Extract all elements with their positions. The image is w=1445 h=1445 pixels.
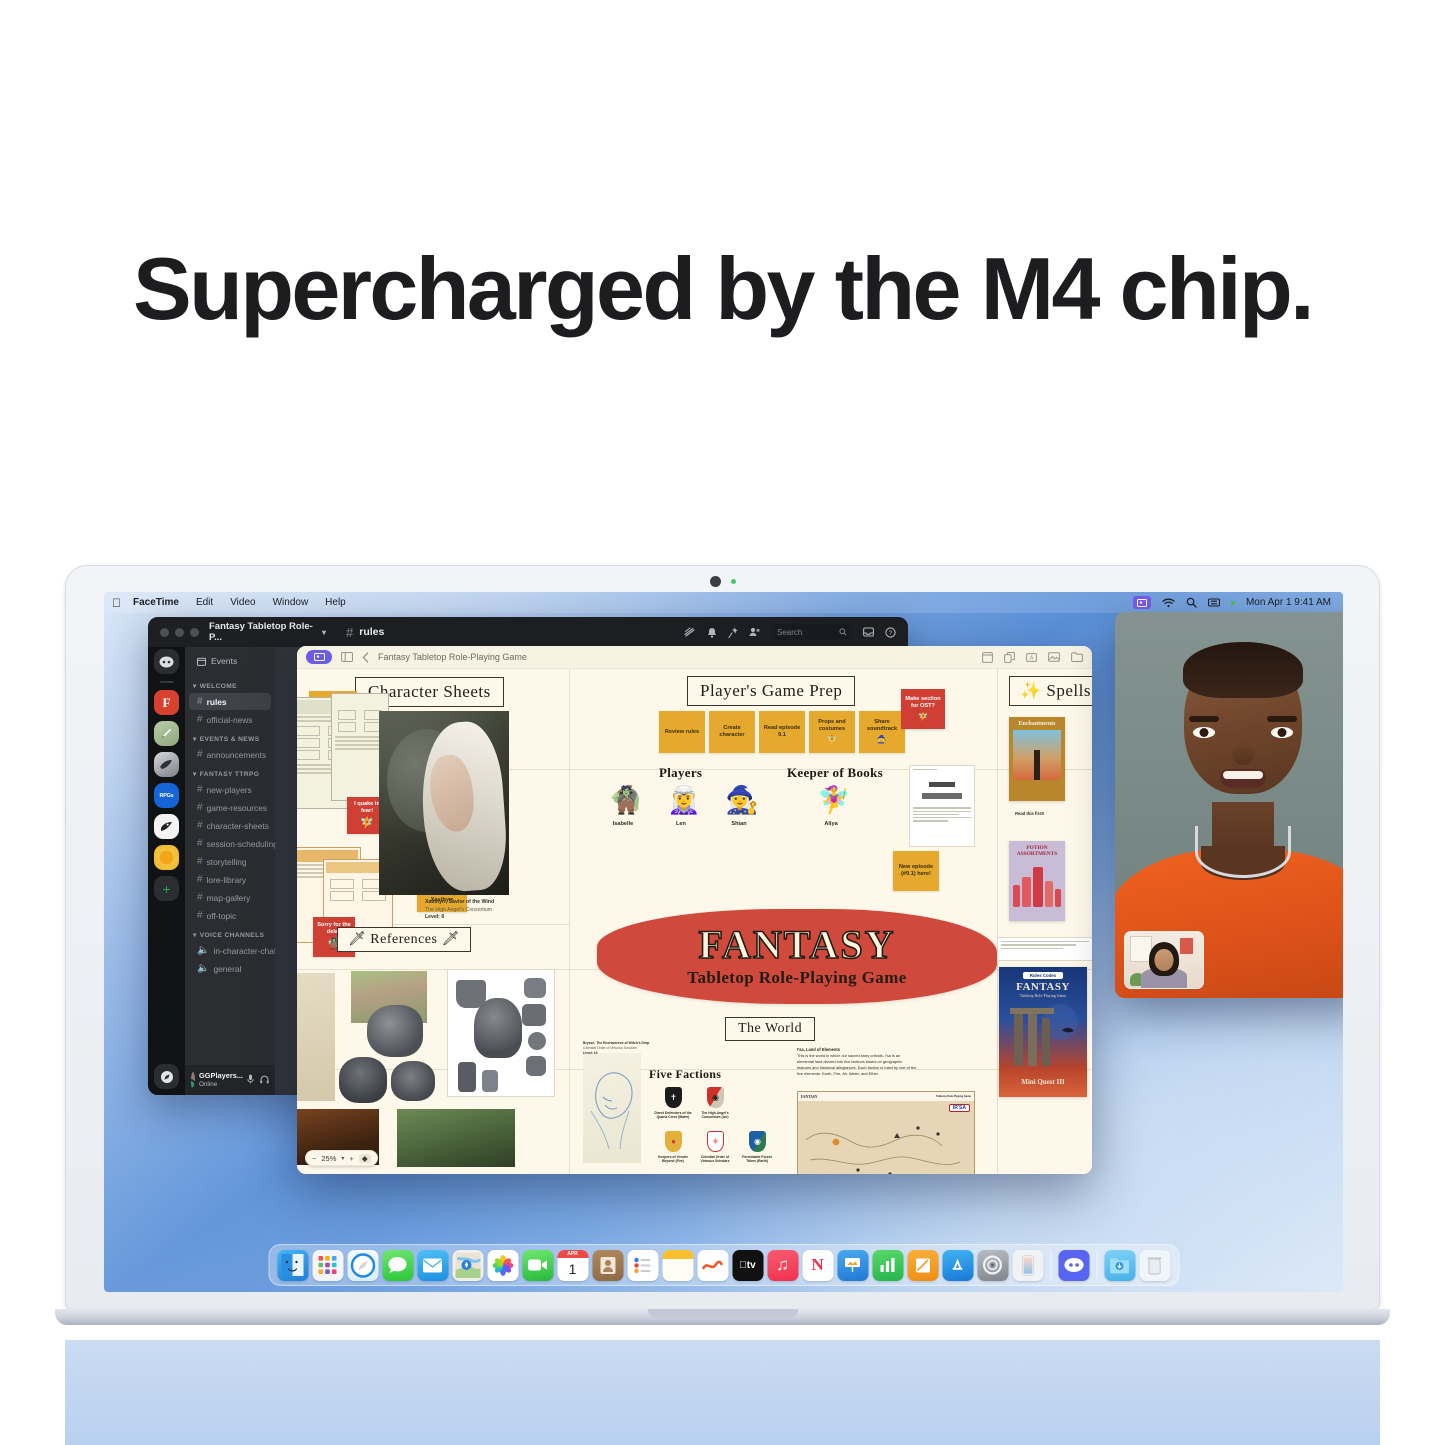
search-icon[interactable] [1186, 597, 1197, 608]
macos-dock[interactable]: APR 1 tv ♫ N [268, 1244, 1179, 1286]
reference-forest-photo[interactable] [397, 1109, 515, 1167]
sword-icon: 🗡 [441, 932, 459, 947]
faction-shield-keepers-yonder[interactable]: ● [665, 1131, 682, 1152]
sidebar-item-session-scheduling[interactable]: # session-scheduling [189, 835, 271, 852]
self-view-face [1155, 949, 1174, 971]
laptop-screen:  FaceTime Edit Video Window Help [104, 592, 1343, 1292]
reference-armor-plate-sheet[interactable] [447, 969, 555, 1097]
sidebar-item-official-news[interactable]: # official-news [189, 711, 271, 728]
sticky-make-ost-section[interactable]: Make section for OST? 🧚 [901, 689, 945, 729]
reference-helmet-3[interactable] [391, 1061, 435, 1101]
hash-icon: # [197, 910, 203, 921]
logo-sub-text: Tabletop Role-Playing Game [687, 968, 906, 988]
laptop-notch-dip [648, 1309, 798, 1318]
facetime-window[interactable] [1115, 612, 1343, 998]
fit-to-screen-icon[interactable]: ◆ [359, 1154, 371, 1163]
participant-teeth [1223, 771, 1263, 779]
dock-icon-messages[interactable] [382, 1250, 413, 1281]
sticky-note-icon[interactable] [982, 652, 993, 663]
book-title: POTION ASSORTMENTS [1013, 845, 1061, 857]
sticky-text: Make section for OST? [904, 696, 942, 710]
minimize-button[interactable] [175, 628, 184, 637]
five-factions-heading: Five Factions [649, 1067, 721, 1082]
menu-help[interactable]: Help [325, 597, 346, 608]
server-mask[interactable] [154, 814, 179, 839]
player-name-shian: Shian [719, 821, 759, 827]
close-button[interactable] [160, 628, 169, 637]
channel-scroll-area[interactable]: Events ▾ WELCOME # rules # [185, 647, 275, 1065]
participant-eye-left [1193, 727, 1215, 738]
maximize-button[interactable] [190, 628, 199, 637]
reference-helmet-2[interactable] [339, 1057, 387, 1103]
hash-icon: # [197, 784, 203, 795]
dock-divider [1050, 1251, 1051, 1279]
sword-icon: 🗡 [348, 932, 366, 947]
book-edition: Mini Quest III [1004, 1078, 1082, 1086]
category-label: FANTASY TTRPG [200, 771, 260, 778]
hash-icon: # [197, 892, 203, 903]
faction-label-high-angel: The High Angel's Consortium (Air) [695, 1111, 735, 1120]
back-chevron-icon[interactable] [362, 652, 369, 663]
svg-text:?: ? [889, 630, 893, 637]
chevron-down-icon: ▾ [193, 682, 197, 690]
discord-server-header[interactable]: Fantasy Tabletop Role-P... ▾ [209, 621, 336, 643]
dock-icon-discord[interactable] [1058, 1250, 1089, 1281]
book-subtitle: Tabletop Role-Playing Game [1004, 993, 1082, 998]
sidebar-item-rules[interactable]: # rules [189, 693, 271, 710]
faction-shield-forest-tribes[interactable]: ◉ [749, 1131, 766, 1152]
sticky-text: New episode (#9.1) here! [896, 864, 936, 878]
discord-channel-list[interactable]: Events ▾ WELCOME # rules # [185, 647, 275, 1095]
character-name: Xasthyrr, Savior of the Wind [425, 899, 525, 907]
dock-icon-contacts[interactable] [592, 1250, 623, 1281]
chevron-down-icon: ▾ [193, 931, 197, 939]
wifi-icon[interactable] [1162, 598, 1175, 608]
screen-share-icon[interactable] [1133, 596, 1151, 609]
discord-active-channel-name: rules [359, 626, 384, 638]
sketch-level: Level: 14 [583, 1051, 669, 1056]
zoom-in-button[interactable]: + [349, 1154, 353, 1163]
channel-label: map-gallery [207, 893, 251, 903]
page-title: Supercharged by the M4 chip. [0, 238, 1445, 340]
hash-icon: # [197, 714, 203, 725]
channel-label: character-sheets [207, 821, 269, 831]
macos-menu-bar:  FaceTime Edit Video Window Help [104, 592, 1343, 613]
dock-icon-music[interactable]: ♫ [767, 1250, 798, 1281]
reference-helmet-1[interactable] [367, 1005, 423, 1057]
discord-server-rail[interactable]: F RPGs + [148, 647, 185, 1095]
media-icon[interactable] [1048, 652, 1060, 662]
reference-sketch-knight[interactable] [297, 973, 335, 1101]
dock-icon-pages[interactable] [907, 1250, 938, 1281]
hash-icon: # [197, 802, 203, 813]
sidebar-item-game-resources[interactable]: # game-resources [189, 799, 271, 816]
server-sun[interactable] [154, 845, 179, 870]
server-rpgs[interactable]: RPGs [154, 783, 179, 808]
task-label: Read episode 9.1 [762, 725, 802, 739]
avatar[interactable] [191, 1072, 195, 1089]
task-label: Share soundtrack [862, 719, 902, 733]
camera-notch [688, 574, 758, 588]
category-label: VOICE CHANNELS [200, 932, 265, 939]
server-raven[interactable] [154, 752, 179, 777]
sidebar-item-storytelling[interactable]: # storytelling [189, 853, 271, 870]
sidebar-item-off-topic[interactable]: # off-topic [189, 907, 271, 924]
sticky-new-episode[interactable]: New episode (#9.1) here! [893, 851, 939, 891]
wizard-emoji: 🧙 [877, 735, 887, 745]
fairy-emoji: 🧚 [827, 735, 837, 745]
dock-icon-numbers[interactable] [872, 1250, 903, 1281]
player-avatar-isabelle[interactable]: 🧌 [609, 787, 643, 814]
discord-user-status: Online [199, 1081, 243, 1088]
section-label-spells: ✨ Spells [1009, 676, 1092, 706]
sparkles-icon: ✨ [1020, 681, 1042, 700]
dock-icon-system-settings[interactable] [977, 1250, 1008, 1281]
dock-icon-freeform[interactable] [697, 1250, 728, 1281]
section-label-the-world: The World [725, 1017, 815, 1041]
dock-icon-mail[interactable] [417, 1250, 448, 1281]
fairy-emoji: 🧚 [918, 712, 928, 722]
book-potion-assortments[interactable]: POTION ASSORTMENTS [1009, 841, 1065, 921]
hash-icon: # [197, 874, 203, 885]
channel-label: general [213, 964, 241, 974]
notifications-bell-icon[interactable] [707, 627, 717, 638]
members-icon[interactable] [749, 627, 761, 637]
freeform-canvas[interactable]: Character Sheets PUT COMPLETED CHARACTER… [297, 669, 1092, 1174]
self-view-wall-art [1180, 938, 1193, 954]
apple-menu-icon[interactable]:  [112, 597, 121, 609]
handbook-note [997, 937, 1092, 961]
sidebar-item-map-gallery[interactable]: # map-gallery [189, 889, 271, 906]
calendar-icon [197, 657, 206, 666]
faction-shield-high-angel[interactable]: ◉ [707, 1087, 724, 1108]
faction-label-celestial-order: Celestial Order of Virtuous Scholars [695, 1155, 735, 1164]
dock-icon-app-store[interactable] [942, 1250, 973, 1281]
episode-script-doc[interactable] [909, 765, 975, 847]
participant-hair [1183, 642, 1303, 698]
server-fantasy-ttrpg[interactable]: F [154, 690, 179, 715]
faction-label-forest-tribes: Formidable Forest Tribes (Earth) [737, 1155, 777, 1164]
participant-nose [1232, 743, 1254, 765]
discord-server-name: Fantasy Tabletop Role-P... [209, 621, 322, 643]
canvas-guide [569, 669, 570, 1174]
world-map-card[interactable]: FANTASY Tabletop Role-Playing Game IR'SA [797, 1091, 975, 1174]
world-lore-body: This is the world in which our sacred st… [797, 1053, 917, 1077]
control-center-icon[interactable] [1208, 598, 1220, 608]
character-affiliation: The High Angel's Consortium [425, 907, 525, 915]
discord-user-controls [247, 1071, 269, 1089]
sidebar-item-events[interactable]: Events [189, 652, 271, 670]
hash-icon: # [197, 838, 203, 849]
server-discord-home[interactable] [154, 649, 179, 674]
elf-sketch-portrait[interactable] [583, 1053, 641, 1163]
dock-icon-downloads-folder[interactable] [1104, 1250, 1135, 1281]
player-name-len: Len [661, 821, 701, 827]
prep-task-read-episode[interactable]: Read episode 9.1 [759, 711, 805, 753]
discord-user-panel[interactable]: GGPlayers... Online [185, 1065, 275, 1095]
server-rail-divider [160, 681, 174, 683]
canvas-zoom-control[interactable]: − 25% ▾ + ◆ [305, 1150, 378, 1166]
server-sword[interactable] [154, 721, 179, 746]
fantasy-game-logo[interactable]: FANTASY Tabletop Role-Playing Game [597, 909, 997, 1004]
book-ruins-art [1004, 1000, 1082, 1072]
server-discover[interactable] [154, 1064, 179, 1089]
recording-indicator-dot [1231, 601, 1235, 605]
prep-task-review-rules[interactable]: Review rules [659, 711, 705, 753]
dock-icon-calendar[interactable]: APR 1 [557, 1250, 588, 1281]
discord-channel-header: # rules [346, 625, 384, 640]
dock-icon-notes[interactable] [662, 1250, 693, 1281]
menu-video[interactable]: Video [230, 597, 255, 608]
category-label: WELCOME [200, 683, 237, 690]
microphone-icon[interactable] [247, 1071, 254, 1089]
hash-icon: # [197, 820, 203, 831]
hash-icon: # [197, 856, 203, 867]
menu-bar-clock[interactable]: Mon Apr 1 9:41 AM [1246, 597, 1331, 608]
faction-shield-celestial-order[interactable]: ✳ [707, 1131, 724, 1152]
dock-icon-safari[interactable] [347, 1250, 378, 1281]
channel-label: lore-library [207, 875, 247, 885]
hash-icon: # [197, 696, 203, 707]
participant-eyebrow-right [1267, 716, 1297, 722]
laptop-stand-surface [65, 1340, 1380, 1445]
task-label: Review rules [665, 729, 699, 736]
dock-icon-reminders[interactable] [627, 1250, 658, 1281]
canvas-guide [997, 669, 998, 1174]
help-icon[interactable]: ? [885, 627, 896, 638]
dock-icon-launchpad[interactable] [312, 1250, 343, 1281]
task-label: Props and costumes [812, 719, 852, 733]
pinned-messages-icon[interactable] [728, 627, 738, 638]
discord-toolbar: Search ? [684, 624, 908, 640]
freeform-tool-icons: A [982, 652, 1083, 663]
map-terrain [798, 1104, 975, 1174]
dock-icon-apple-tv[interactable]: tv [732, 1250, 763, 1281]
character-level: Level: 6 [425, 914, 525, 922]
player-name-isabelle: Isabelle [603, 821, 643, 827]
channel-category-events-news[interactable]: ▾ EVENTS & NEWS [185, 729, 275, 745]
discord-title-bar: Fantasy Tabletop Role-P... ▾ # rules [148, 617, 908, 647]
menu-app-name[interactable]: FaceTime [133, 597, 179, 608]
channel-label: in-character-chat [213, 946, 275, 956]
discord-search-placeholder: Search [777, 628, 835, 637]
players-heading: Players [659, 765, 702, 781]
threads-icon[interactable] [684, 627, 696, 637]
world-lore-text: I'sa, Land of Elements This is the world… [797, 1047, 917, 1078]
participant-necklace [1195, 826, 1291, 878]
channel-label: storytelling [207, 857, 247, 867]
book-title: FANTASY [1004, 981, 1082, 993]
discord-username: GGPlayers... [199, 1072, 243, 1081]
sidebar-item-general-voice[interactable]: 🔈 general [189, 960, 271, 977]
character-caption: Xasthyrr, Savior of the Wind The High An… [425, 899, 525, 922]
book-label-rules-codex: Rules Codex [1023, 972, 1063, 979]
book-title: Enchantments [1013, 721, 1061, 727]
elf-sketch-caption: Brysse, The Enchantress of Witch's Drop … [583, 1041, 669, 1056]
sidebar-item-new-players[interactable]: # new-players [189, 781, 271, 798]
hash-icon: # [197, 749, 203, 760]
world-lore-title: I'sa, Land of Elements [797, 1047, 840, 1052]
participant-eye-right [1271, 727, 1293, 738]
channel-label: new-players [207, 785, 252, 795]
chevron-down-icon[interactable]: ▾ [341, 1155, 344, 1162]
menu-edit[interactable]: Edit [196, 597, 213, 608]
references-title: References [370, 932, 437, 947]
channel-category-voice-channels[interactable]: ▾ VOICE CHANNELS [185, 925, 275, 941]
search-icon [839, 628, 847, 636]
add-server-button[interactable]: + [154, 876, 179, 901]
shapes-icon[interactable] [1004, 652, 1015, 663]
participant-mouth [1220, 769, 1266, 788]
faction-label-keepers-yonder: Keepers of Yonder Beyond (Fire) [653, 1155, 693, 1164]
book-enchantments[interactable]: Enchantments [1009, 717, 1065, 801]
book-caption-read-first: Read this first! [1015, 811, 1044, 817]
map-subtitle: Tabletop Role-Playing Game [936, 1095, 971, 1098]
player-avatar-len[interactable]: 🧝‍♀️ [667, 787, 701, 814]
insert-file-icon[interactable] [1071, 652, 1083, 662]
calendar-day: 1 [569, 1258, 577, 1281]
chevron-down-icon: ▾ [193, 735, 197, 743]
share-screen-icon[interactable] [306, 650, 332, 664]
task-label: Create character [712, 725, 752, 739]
section-label-references: 🗡 References 🗡 [337, 927, 471, 952]
macbook-device:  FaceTime Edit Video Window Help [65, 565, 1380, 1325]
channel-label: session-scheduling [207, 839, 275, 849]
book-mini-quest-iii[interactable]: Rules Codex FANTASY Tabletop Role-Playin… [999, 967, 1087, 1097]
svg-text:A: A [1030, 655, 1034, 661]
channel-label: game-resources [207, 803, 268, 813]
speaker-icon: 🔈 [197, 945, 209, 956]
dock-icon-trash[interactable] [1139, 1250, 1170, 1281]
prep-task-props-costumes[interactable]: Props and costumes 🧚 [809, 711, 855, 753]
sidebar-item-in-character-chat[interactable]: 🔈 in-character-chat [189, 942, 271, 959]
chevron-down-icon[interactable]: ▾ [322, 628, 326, 637]
window-traffic-lights[interactable] [148, 628, 209, 637]
channel-label: rules [207, 697, 227, 707]
menu-bar-status-items: Mon Apr 1 9:41 AM [1133, 596, 1335, 609]
menu-window[interactable]: Window [273, 597, 309, 608]
chevron-down-icon: ▾ [193, 770, 197, 778]
sidebar-item-announcements[interactable]: # announcements [189, 746, 271, 763]
dock-icon-photos[interactable] [487, 1250, 518, 1281]
sidebar-item-lore-library[interactable]: # lore-library [189, 871, 271, 888]
section-label-game-prep: Player's Game Prep [687, 676, 855, 706]
spells-title: Spells [1046, 681, 1091, 700]
dock-icon-news[interactable]: N [802, 1250, 833, 1281]
channel-label: off-topic [207, 911, 237, 921]
zoom-out-button[interactable]: − [312, 1154, 316, 1163]
sidebar-item-character-sheets[interactable]: # character-sheets [189, 817, 271, 834]
dock-icon-keynote[interactable] [837, 1250, 868, 1281]
category-label: EVENTS & NEWS [200, 736, 260, 743]
dock-icon-iphone-mirroring[interactable] [1012, 1250, 1043, 1281]
keeper-avatar-aliya[interactable]: 🧚‍♀️ [817, 787, 851, 814]
text-box-icon[interactable]: A [1026, 652, 1037, 663]
prep-task-share-soundtrack[interactable]: Share soundtrack 🧙 [859, 711, 905, 753]
dock-icon-facetime[interactable] [522, 1250, 553, 1281]
dock-icon-maps[interactable] [452, 1250, 483, 1281]
player-avatar-shian[interactable]: 🧙‍♀️ [725, 787, 759, 814]
zoom-level-value[interactable]: 25% [321, 1154, 336, 1163]
dock-icon-finder[interactable] [277, 1250, 308, 1281]
inbox-icon[interactable] [863, 627, 874, 637]
channel-label: official-news [207, 715, 253, 725]
logo-main-text: FANTASY [699, 925, 896, 965]
camera-icon [710, 576, 721, 587]
keeper-heading: Keeper of Books [787, 765, 883, 781]
facetime-self-view[interactable] [1124, 931, 1204, 989]
freeform-window[interactable]: Fantasy Tabletop Role-Playing Game A [297, 646, 1092, 1174]
character-portrait-xasthyrr[interactable] [379, 711, 509, 895]
channel-category-welcome[interactable]: ▾ WELCOME [185, 676, 275, 692]
speaker-icon: 🔈 [197, 963, 209, 974]
discord-search-input[interactable]: Search [772, 624, 852, 640]
channel-label: announcements [207, 750, 267, 760]
freeform-board-title: Fantasy Tabletop Role-Playing Game [378, 652, 527, 662]
keeper-name-aliya: Aliya [811, 821, 851, 827]
channel-category-fantasy-ttrpg[interactable]: ▾ FANTASY TTRPG [185, 764, 275, 780]
map-brand: FANTASY [801, 1095, 817, 1099]
participant-eyebrow-left [1189, 716, 1219, 722]
camera-led-indicator [731, 579, 736, 584]
freeform-toolbar: Fantasy Tabletop Role-Playing Game A [297, 646, 1092, 669]
faction-shield-quartz-crest[interactable]: ✝ [665, 1087, 682, 1108]
map-header: FANTASY Tabletop Role-Playing Game [798, 1092, 974, 1101]
laptop-lid:  FaceTime Edit Video Window Help [65, 565, 1380, 1310]
events-label: Events [211, 656, 237, 666]
fairy-emoji: 🧚 [360, 817, 374, 831]
calendar-month: APR [557, 1250, 588, 1258]
prep-task-create-character[interactable]: Create character [709, 711, 755, 753]
sidebar-toggle-icon[interactable] [341, 652, 353, 662]
dock-divider [1096, 1251, 1097, 1279]
faction-label-quartz-crest: Direct Defenders of the Quartz Crest (Wa… [653, 1111, 693, 1120]
headset-icon[interactable] [260, 1071, 269, 1089]
hash-icon: # [346, 625, 353, 640]
